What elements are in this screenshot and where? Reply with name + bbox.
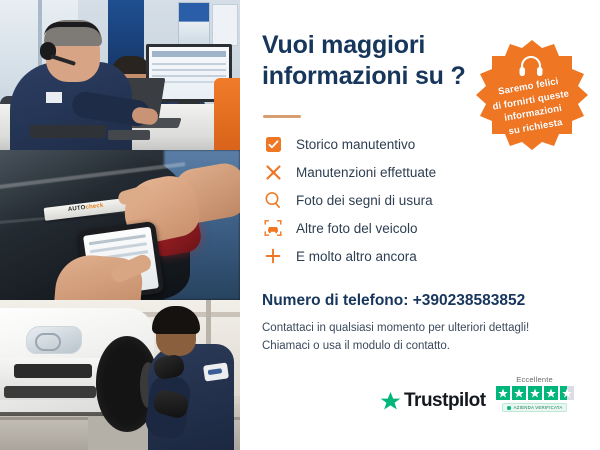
car-grille-lower (4, 386, 96, 398)
feature-item-molto-altro: E molto altro ancora (262, 243, 502, 269)
content-panel: Vuoi maggiori informazioni su ? Saremo f… (240, 0, 600, 450)
mousepad (108, 130, 150, 140)
contact-instructions-line-2: Chiamaci o usa il modulo di contatto. (262, 338, 562, 356)
trustpilot-wordmark: Trustpilot (404, 390, 486, 412)
star-full (496, 386, 510, 400)
feature-item-altre-foto-veicolo: Altre foto del veicolo (262, 215, 502, 241)
mechanic-uniform-patch (203, 362, 229, 381)
call-center-advisors-photo (0, 0, 240, 150)
trustpilot-rating[interactable]: Trustpilot Eccellente (380, 375, 574, 412)
car-headlight (26, 326, 82, 354)
star-full (512, 386, 526, 400)
vehicle-inspection-strip-photo: AUTOcheck (0, 150, 240, 300)
feature-label: Foto dei segni di usura (296, 193, 433, 208)
verified-business-label: AZIENDA VERIFICATA (514, 405, 563, 410)
feature-label: E molto altro ancora (296, 249, 417, 264)
star-full (528, 386, 542, 400)
wall-poster (178, 2, 210, 50)
contact-instructions: Contattaci in qualsiasi momento per ulte… (262, 320, 562, 356)
feature-label: Altre foto del veicolo (296, 221, 418, 236)
strip-brand-label: AUTOcheck (68, 203, 104, 213)
checkbox-checked-icon (262, 133, 284, 155)
trustpilot-logo: Trustpilot (380, 390, 486, 412)
wrench-screwdriver-icon (262, 161, 284, 183)
feature-item-foto-segni-usura: Foto dei segni di usura (262, 187, 502, 213)
star-full (544, 386, 558, 400)
orange-signage (214, 78, 240, 150)
trustpilot-stars (496, 386, 574, 400)
trustpilot-score-block: Eccellente (496, 375, 574, 412)
feature-item-storico-manutentivo: Storico manutentivo (262, 131, 502, 157)
trustpilot-star-icon (380, 391, 401, 412)
car-scan-frame-icon (262, 217, 284, 239)
car-grille-upper (14, 364, 92, 378)
promo-banner: AUTOcheck (0, 0, 600, 450)
star-half (560, 386, 574, 400)
photo-column: AUTOcheck (0, 0, 240, 450)
advisor-front-headset-band (44, 22, 100, 37)
magnifier-icon (262, 189, 284, 211)
plus-icon (262, 245, 284, 267)
headset-icon (518, 55, 544, 77)
title-underline-divider (263, 115, 301, 118)
feature-list: Storico manutentivo Manutenzioni effettu… (262, 131, 502, 271)
contact-instructions-line-1: Contattaci in qualsiasi momento per ulte… (262, 322, 529, 334)
feature-item-manutenzioni-effettuate: Manutenzioni effettuate (262, 159, 502, 185)
page-title: Vuoi maggiori informazioni su ? (262, 30, 472, 92)
mechanic-wheel-check-photo (0, 300, 240, 450)
verified-check-icon (507, 406, 511, 410)
page-title-line-1: Vuoi maggiori (262, 31, 425, 59)
feature-label: Storico manutentivo (296, 137, 415, 152)
page-title-line-2: informazioni su ? (262, 61, 472, 92)
feature-label: Manutenzioni effettuate (296, 165, 436, 180)
verified-business-badge: AZIENDA VERIFICATA (502, 403, 568, 412)
phone-number-line[interactable]: Numero di telefono: +390238583852 (262, 292, 525, 310)
wall-poster-secondary (212, 4, 238, 46)
advisor-front-badge (46, 92, 62, 103)
trustpilot-rating-label: Eccellente (516, 375, 553, 384)
keyboard (30, 125, 106, 138)
